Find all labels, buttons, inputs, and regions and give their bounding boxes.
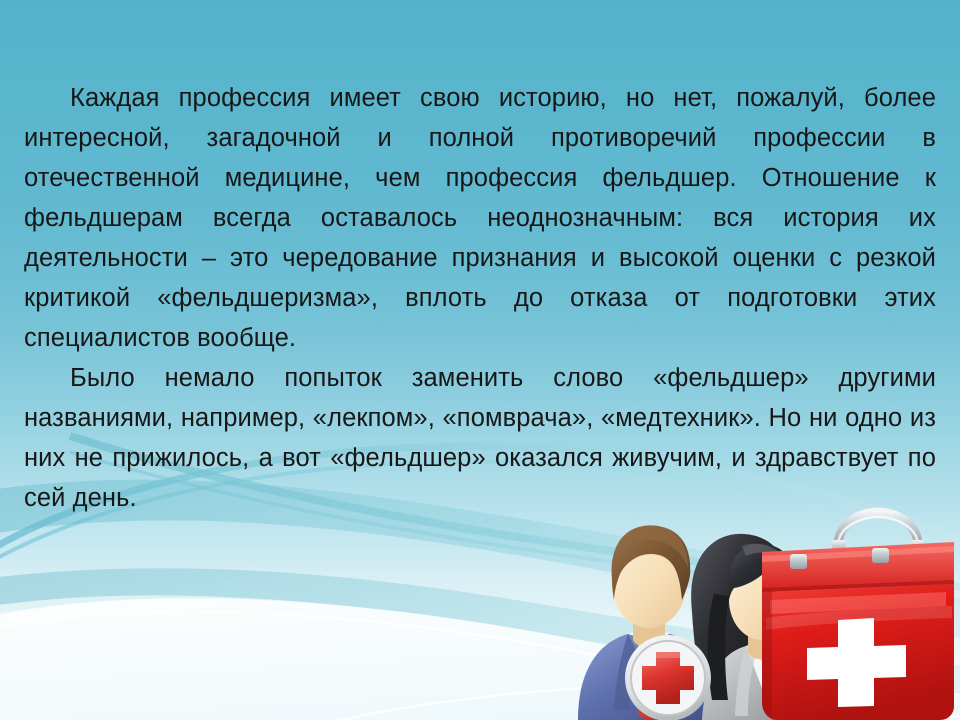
presentation-slide: Каждая профессия имеет свою историю, но … [0,0,960,720]
paragraph-1: Каждая профессия имеет свою историю, но … [24,78,936,358]
red-cross-badge-icon [625,635,711,720]
slide-body-text: Каждая профессия имеет свою историю, но … [24,78,936,518]
paragraph-2: Было немало попыток заменить слово «фель… [24,358,936,518]
first-aid-case-icon [762,512,954,720]
medical-illustration [566,500,960,720]
